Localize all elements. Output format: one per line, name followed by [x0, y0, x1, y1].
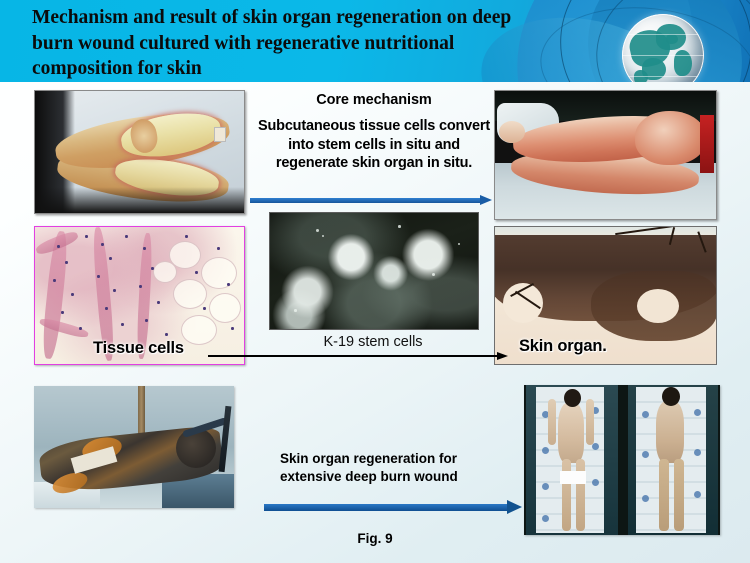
micrograph-regenerated-skin-organ: Skin organ.: [494, 226, 717, 365]
core-mechanism-heading: Core mechanism: [258, 92, 490, 108]
photo-extensive-deep-burn-patient: [34, 386, 234, 508]
label-skin-organ: Skin organ.: [519, 337, 607, 356]
photo-deep-burn-wound-legs: [34, 90, 245, 214]
arrow-right-blue-top: [250, 195, 492, 206]
label-k19-stem-cells: K-19 stem cells: [269, 334, 477, 350]
bottom-description-text: Skin organ regeneration for extensive de…: [280, 450, 520, 486]
photo-regenerated-skin-legs: [494, 90, 717, 220]
arrow-right-black-middle: [208, 352, 508, 361]
label-tissue-cells: Tissue cells: [93, 339, 184, 358]
figure-caption: Fig. 9: [0, 531, 750, 546]
micrograph-k19-stem-cells: [269, 212, 479, 330]
page-title: Mechanism and result of skin organ regen…: [32, 5, 532, 82]
arrow-right-blue-bottom: [264, 500, 522, 515]
slide-canvas: Mechanism and result of skin organ regen…: [0, 0, 750, 563]
micrograph-subcutaneous-tissue-cells: Tissue cells: [34, 226, 245, 365]
header-banner: Mechanism and result of skin organ regen…: [0, 0, 750, 82]
photo-recovered-patient-front-back: [524, 385, 720, 535]
core-mechanism-body: Subcutaneous tissue cells convert into s…: [253, 117, 495, 173]
